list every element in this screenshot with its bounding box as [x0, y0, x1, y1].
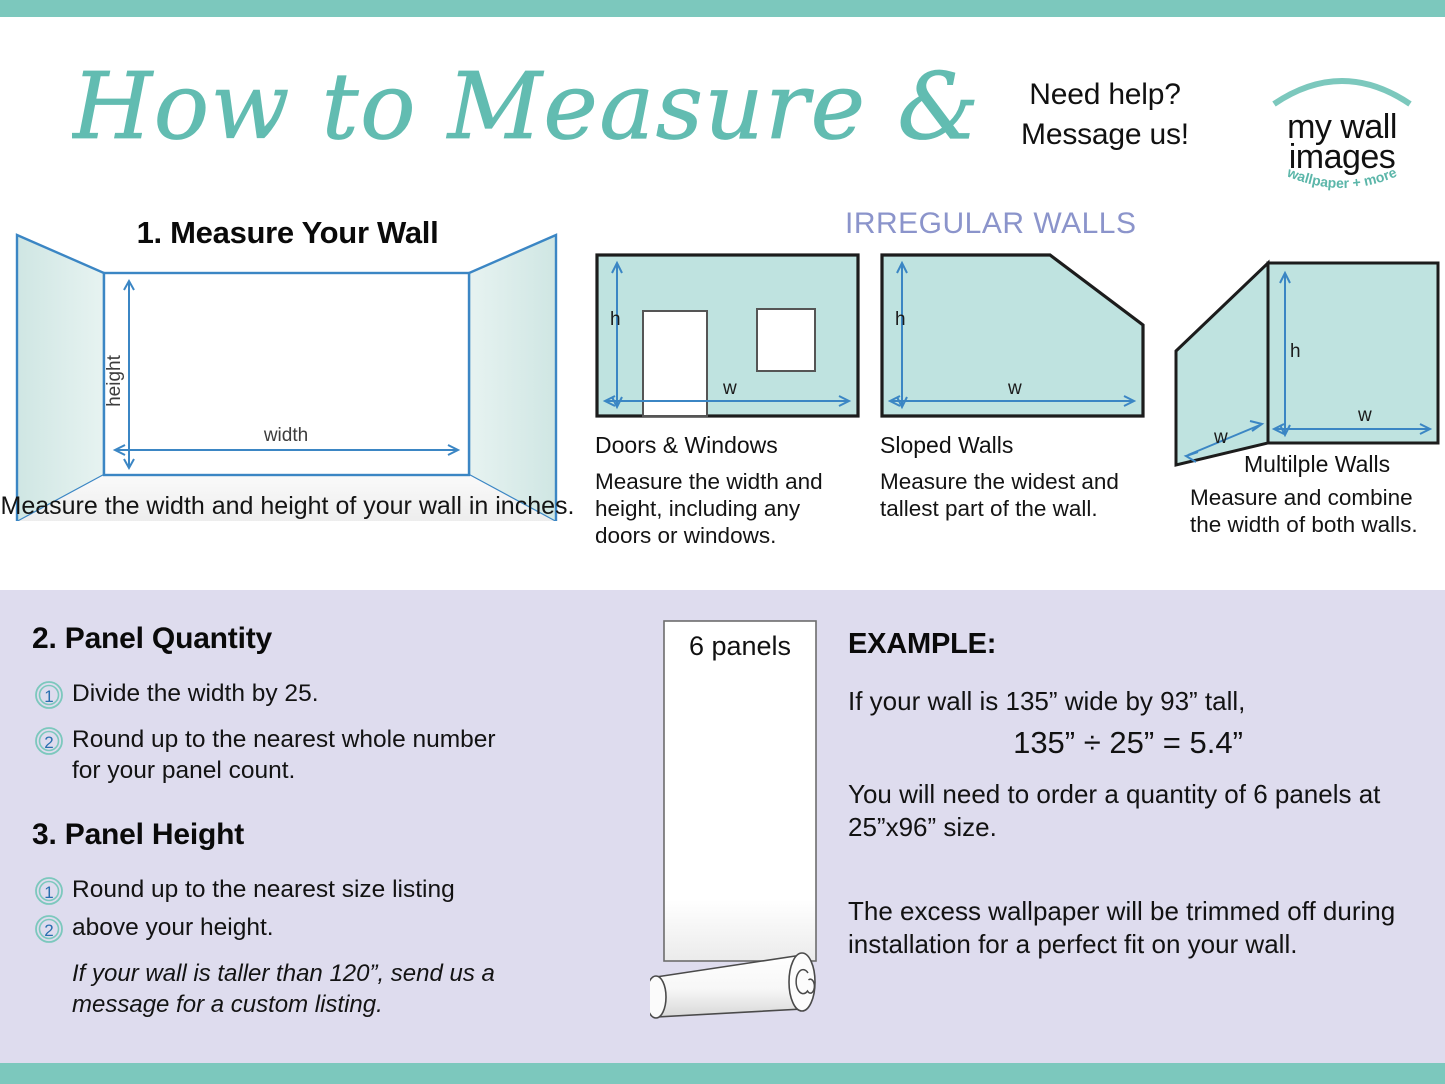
card-multiple-walls: h w w Multilple Walls Measure and combin… — [1172, 253, 1442, 538]
badge-2-icon: 2 — [32, 724, 66, 758]
section-measure-your-wall: height width 1. Measure Your Wall Measur… — [0, 205, 575, 575]
badge-1-icon: 1 — [32, 678, 66, 712]
roll-curl-right-end — [789, 953, 815, 1011]
brand-logo: my wall images wallpaper + more — [1252, 52, 1432, 192]
top-accent-bar — [0, 0, 1445, 17]
step3-item-1-text: Round up to the nearest size listing — [72, 874, 455, 905]
badge-3-icon: 1 — [32, 874, 66, 908]
logo-arc-icon — [1274, 81, 1410, 104]
height-label: height — [104, 354, 125, 406]
example-line1: If your wall is 135” wide by 93” tall, — [848, 685, 1428, 718]
section1-heading: 1. Measure Your Wall — [0, 215, 575, 251]
roll-panel-count-label: 6 panels — [650, 631, 830, 662]
multiple-walls-diagram: h w w — [1172, 253, 1442, 468]
step2-item-1: 1 Divide the width by 25. — [32, 678, 532, 712]
bottom-accent-bar — [0, 1063, 1445, 1084]
doors-windows-diagram: h w — [595, 253, 860, 418]
badge-4-icon: 2 — [32, 912, 66, 946]
step2-item-1-text: Divide the width by 25. — [72, 678, 319, 709]
mw-width-label: w — [1357, 405, 1372, 426]
example-heading: EXAMPLE: — [848, 628, 996, 661]
mw-side-width-label: w — [1213, 427, 1228, 448]
need-help-block: Need help? Message us! — [985, 75, 1225, 155]
step2-heading: 2. Panel Quantity — [32, 622, 272, 656]
roll-curl-left-end — [650, 976, 666, 1018]
step3-heading: 3. Panel Height — [32, 818, 244, 852]
section1-caption: Measure the width and height of your wal… — [0, 490, 575, 523]
dw-width-label: w — [722, 378, 737, 399]
badge-2-number: 2 — [44, 733, 53, 752]
badge-3-number: 1 — [44, 883, 53, 902]
wallpaper-roll-illustration — [650, 617, 830, 1032]
dw-height-label: h — [610, 309, 621, 330]
need-help-line2: Message us! — [985, 115, 1225, 155]
page-title: How to Measure & Order — [72, 52, 982, 164]
window-shape — [757, 309, 815, 371]
room-right-wall — [469, 235, 556, 521]
card-multiple-walls-desc: Measure and combine the width of both wa… — [1172, 484, 1442, 538]
sw-height-label: h — [895, 309, 906, 330]
step3-item-2: 2 above your height. — [32, 912, 452, 946]
roll-curl-body — [656, 955, 802, 1017]
example-line3: The excess wallpaper will be trimmed off… — [848, 895, 1428, 961]
step2-item-2-text: Round up to the nearest whole number for… — [72, 724, 502, 786]
infographic-page: How to Measure & Order Need help? Messag… — [0, 0, 1445, 1084]
card-sloped-walls: h w Sloped Walls Measure the widest and … — [880, 253, 1145, 522]
step3-note: If your wall is taller than 120”, send u… — [72, 958, 542, 1020]
card-sloped-walls-title: Sloped Walls — [880, 432, 1145, 459]
card-doors-windows-desc: Measure the width and height, including … — [595, 468, 860, 549]
step2-item-2: 2 Round up to the nearest whole number f… — [32, 724, 502, 786]
card-doors-windows-title: Doors & Windows — [595, 432, 860, 459]
page-title-text: How to Measure & Order — [72, 53, 982, 160]
example-line2: You will need to order a quantity of 6 p… — [848, 778, 1428, 844]
step3-item-1: 1 Round up to the nearest size listing — [32, 874, 552, 908]
step3-item-2-text: above your height. — [72, 912, 274, 943]
sw-width-label: w — [1007, 378, 1022, 399]
card-doors-windows: h w Doors & Windows Measure the width an… — [595, 253, 860, 549]
badge-1-number: 1 — [44, 687, 53, 706]
mw-height-label: h — [1290, 341, 1301, 362]
example-equation: 135” ÷ 25” = 5.4” — [848, 725, 1408, 761]
need-help-line1: Need help? — [985, 75, 1225, 115]
room-left-wall — [17, 235, 104, 521]
irregular-walls-heading: IRREGULAR WALLS — [845, 207, 1136, 241]
badge-4-number: 2 — [44, 921, 53, 940]
room-diagram: height width — [0, 221, 575, 521]
width-label: width — [263, 425, 308, 446]
card-sloped-walls-desc: Measure the widest and tallest part of t… — [880, 468, 1145, 522]
roll-sheet — [664, 621, 816, 961]
sloped-walls-diagram: h w — [880, 253, 1145, 418]
